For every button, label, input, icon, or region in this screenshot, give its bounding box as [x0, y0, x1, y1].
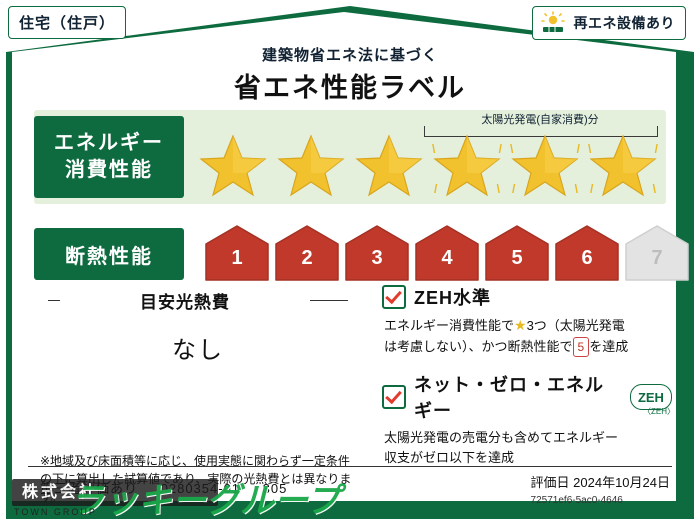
solar-bracket-note: 太陽光発電(自家消費)分	[424, 111, 656, 127]
footer-left: 第三者評価あり 0280354-01 305	[40, 478, 287, 497]
insulation-level-number: 4	[441, 247, 452, 282]
third-party-eval-label: 第三者評価あり	[40, 481, 138, 496]
insulation-label: 断熱性能	[34, 228, 184, 280]
footer-code: 0280354-01	[161, 481, 240, 496]
cost-value: なし	[48, 330, 348, 365]
check-zeh-desc-a: エネルギー消費性能で	[384, 318, 514, 333]
check-netzero-desc-a: 太陽光発電の売電分も含めてエネルギー	[384, 430, 618, 445]
check-item-net-zero: ネット・ゼロ・エネルギー ZEH 〈ZEH〉 太陽光発電の売電分も含めてエネルギ…	[382, 371, 672, 468]
energy-label-page: 住宅（住戸） 再エネ設備あり 建築物省エネ法に基づく 省エネ性能ラベル	[0, 0, 700, 525]
check-zeh-desc-d: を達成	[589, 339, 628, 354]
insulation-level-number: 3	[371, 247, 382, 282]
energy-label-line1: エネルギー	[54, 130, 164, 157]
insulation-level-6: 6	[554, 224, 620, 282]
insulation-level-number: 5	[511, 247, 522, 282]
zeh-badge-icon: ZEH 〈ZEH〉	[630, 384, 672, 410]
insulation-level-number: 6	[581, 247, 592, 282]
check-zeh-desc-c: は考慮しない）、かつ断熱性能で	[384, 339, 573, 354]
solar-badge-label: 再エネ設備あり	[574, 13, 676, 33]
footer-code2: 305	[263, 481, 288, 496]
sun-icon	[539, 11, 567, 35]
achievement-checks: ZEH水準 エネルギー消費性能で★3つ（太陽光発電 は考慮しない）、かつ断熱性能…	[382, 284, 672, 469]
insulation-level-number: 7	[651, 247, 662, 282]
header-subtitle: 建築物省エネ法に基づく	[0, 44, 700, 65]
star-icon	[274, 132, 348, 200]
star-icon	[196, 132, 270, 200]
star-icon: \//\	[586, 132, 660, 200]
energy-performance-label: エネルギー 消費性能	[34, 116, 184, 198]
insulation-level-number: 2	[301, 247, 312, 282]
insulation-level-scale: 1234567	[204, 224, 690, 282]
page-title: 省エネ性能ラベル	[0, 66, 700, 105]
check-zeh-title: ZEH水準	[414, 284, 491, 310]
insulation-level-5: 5	[484, 224, 550, 282]
zeh-badge-sub: 〈ZEH〉	[643, 406, 675, 417]
check-netzero-title: ネット・ゼロ・エネルギー	[414, 371, 622, 423]
check-item-zeh-level: ZEH水準 エネルギー消費性能で★3つ（太陽光発電 は考慮しない）、かつ断熱性能…	[382, 284, 672, 357]
evaluation-hash: 72571ef6-5ac0-4646	[531, 495, 670, 506]
inline-star-icon: ★	[514, 317, 527, 333]
energy-star-rating: \//\\//\\//\	[196, 132, 664, 200]
footer-right: 評価日 2024年10月24日 72571ef6-5ac0-4646	[531, 472, 670, 506]
check-icon	[382, 285, 406, 309]
insulation-level-2: 2	[274, 224, 340, 282]
insulation-level-number: 1	[231, 247, 242, 282]
check-icon	[382, 385, 406, 409]
star-icon: \//\	[508, 132, 582, 200]
check-netzero-desc-b: 収支がゼロ以下を達成	[384, 450, 514, 465]
footer-divider	[28, 466, 672, 467]
insulation-level-1: 1	[204, 224, 270, 282]
cost-note-line1: ※地域及び床面積等に応じ、使用実態に関わらず一定条件	[40, 452, 370, 470]
energy-label-line2: 消費性能	[65, 157, 153, 184]
star-icon	[352, 132, 426, 200]
insulation-level-7: 7	[624, 224, 690, 282]
cost-title: 目安光熱費	[60, 288, 310, 313]
zeh-badge-text: ZEH	[638, 390, 664, 405]
solar-equipment-badge: 再エネ設備あり	[532, 6, 687, 40]
star-icon: \//\	[430, 132, 504, 200]
check-zeh-desc-b: 3つ（太陽光発電	[527, 318, 625, 333]
evaluation-date: 評価日 2024年10月24日	[531, 472, 670, 491]
house-type-badge: 住宅（住戸）	[8, 6, 126, 39]
insulation-level-4: 4	[414, 224, 480, 282]
check-zeh-description: エネルギー消費性能で★3つ（太陽光発電 は考慮しない）、かつ断熱性能で5を達成	[384, 315, 672, 357]
check-zeh-level-value: 5	[573, 337, 590, 358]
check-netzero-description: 太陽光発電の売電分も含めてエネルギー 収支がゼロ以下を達成	[384, 428, 672, 468]
insulation-level-3: 3	[344, 224, 410, 282]
